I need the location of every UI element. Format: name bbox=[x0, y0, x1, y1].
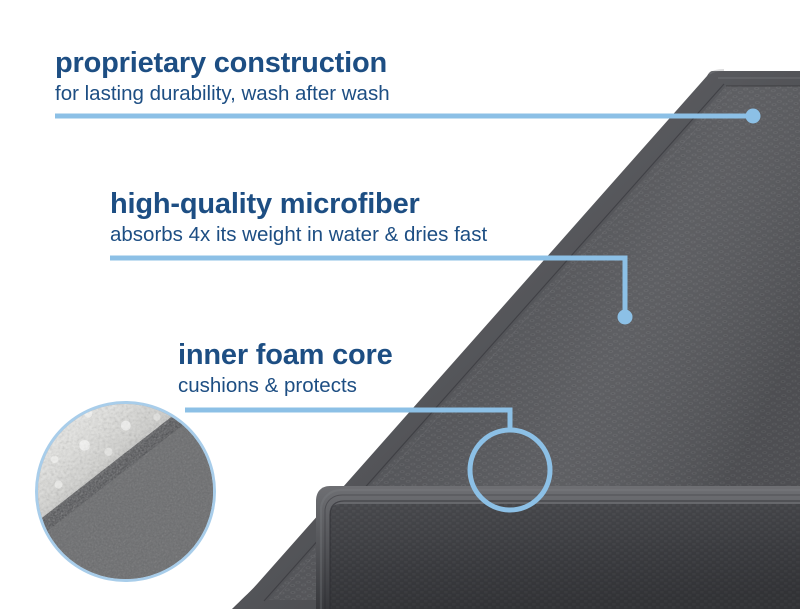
foam-core-cross-section-image bbox=[38, 404, 213, 579]
callout-1-heading: proprietary construction bbox=[55, 48, 390, 78]
foam-core-cross-section-inset bbox=[38, 404, 213, 579]
product-feature-infographic: proprietary construction for lasting dur… bbox=[0, 0, 800, 609]
callout-2-heading: high-quality microfiber bbox=[110, 189, 487, 219]
callout-high-quality-microfiber: high-quality microfiber absorbs 4x its w… bbox=[110, 189, 487, 247]
callout-3-subtext: cushions & protects bbox=[178, 374, 393, 398]
callout-2-subtext: absorbs 4x its weight in water & dries f… bbox=[110, 223, 487, 247]
callout-3-heading: inner foam core bbox=[178, 340, 393, 370]
callout-inner-foam-core: inner foam core cushions & protects bbox=[178, 340, 393, 398]
callout-proprietary-construction: proprietary construction for lasting dur… bbox=[55, 48, 390, 106]
mat-lower-body bbox=[316, 486, 800, 609]
callout-1-subtext: for lasting durability, wash after wash bbox=[55, 82, 390, 106]
